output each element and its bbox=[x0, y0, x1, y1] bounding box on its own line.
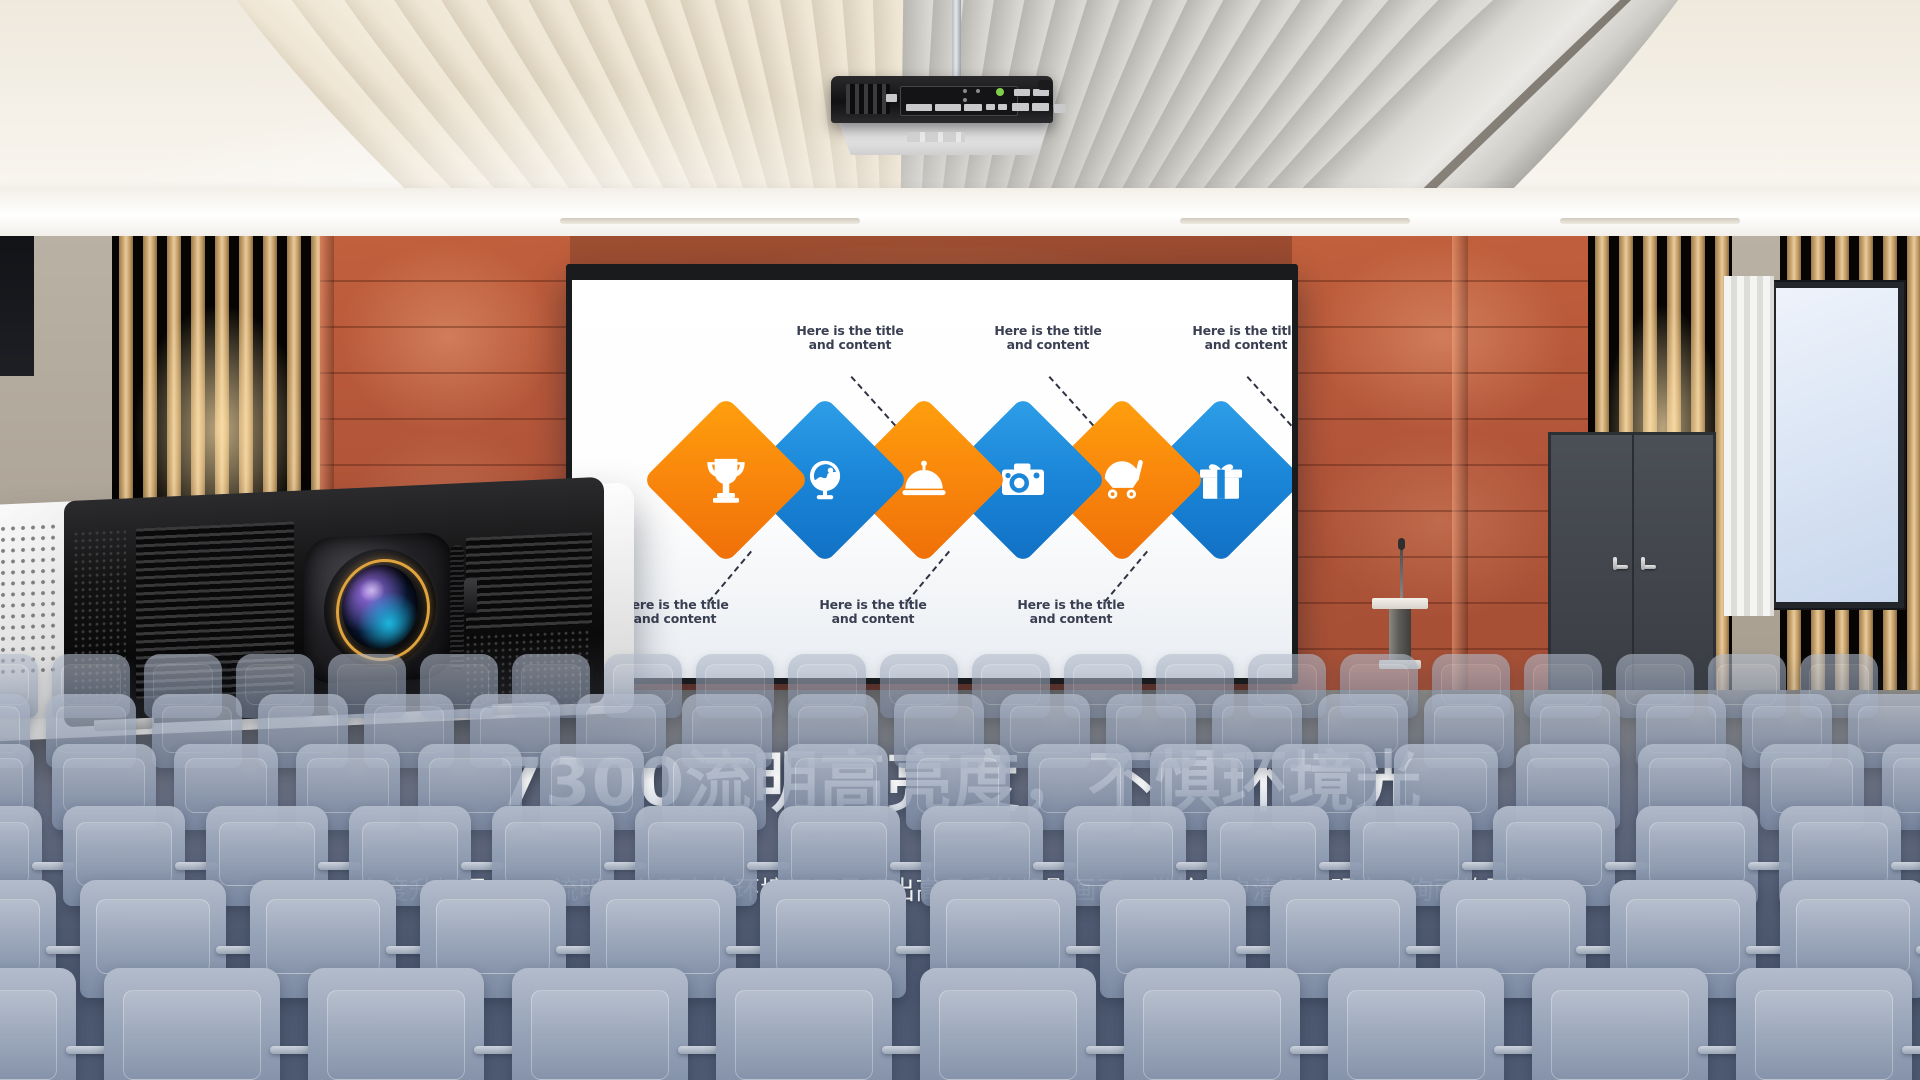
projector-vent-right bbox=[466, 532, 592, 630]
slide-label-top-2: Here is the titleand content bbox=[973, 324, 1123, 352]
slide-leader-line-bottom-1 bbox=[708, 551, 752, 603]
projector-focus-wheel[interactable] bbox=[450, 545, 464, 672]
auditorium-seat bbox=[1124, 968, 1300, 1080]
slide-leader-line-top-1 bbox=[851, 376, 897, 426]
projector-port bbox=[935, 104, 961, 111]
slide-label-bottom-3: Here is the titleand content bbox=[996, 598, 1146, 626]
product-banner: Here is the titleand contentHere is the … bbox=[0, 0, 1920, 1080]
projector-lens-shift-tab[interactable] bbox=[464, 579, 477, 614]
projector-indicator bbox=[996, 88, 1004, 96]
soffit-light-slot bbox=[1560, 218, 1740, 224]
projector-port bbox=[886, 94, 897, 102]
ceiling-projector-vent bbox=[846, 84, 890, 114]
projector-port bbox=[998, 104, 1007, 110]
projector-port bbox=[1033, 89, 1049, 96]
seat-armrest bbox=[1891, 862, 1920, 870]
door-handle-left[interactable] bbox=[1613, 565, 1628, 569]
projector-port bbox=[1012, 103, 1029, 111]
slide-label-top-3: Here is the titleand content bbox=[1171, 324, 1292, 352]
projection-screen: Here is the titleand contentHere is the … bbox=[572, 280, 1292, 678]
slide-leader-line-bottom-2 bbox=[906, 551, 950, 603]
podium-top bbox=[1372, 598, 1428, 609]
soffit-light-slot bbox=[1180, 218, 1410, 224]
window-glass bbox=[1776, 288, 1898, 602]
auditorium-seat bbox=[1532, 968, 1708, 1080]
auditorium-seat bbox=[512, 968, 688, 1080]
projected-slide: Here is the titleand contentHere is the … bbox=[572, 280, 1292, 678]
projector-port bbox=[964, 104, 982, 111]
auditorium-seat bbox=[308, 968, 484, 1080]
ceiling-projector-underside-vent bbox=[907, 132, 965, 142]
projector-port bbox=[1032, 103, 1049, 111]
seat-armrest bbox=[1902, 1046, 1920, 1054]
trophy-icon bbox=[667, 421, 785, 539]
seat-armrest bbox=[1916, 946, 1920, 954]
projector-indicator bbox=[976, 89, 980, 93]
projector-indicator bbox=[963, 98, 967, 102]
terracotta-wall-right bbox=[1292, 236, 1592, 696]
wall-corner-right bbox=[1452, 236, 1468, 696]
projector-port bbox=[906, 104, 932, 111]
wall-sheen bbox=[1292, 236, 1592, 696]
soffit-light-slot bbox=[560, 218, 860, 224]
projector-mount-rod bbox=[952, 0, 961, 76]
side-window bbox=[1768, 280, 1906, 610]
projector-port bbox=[1054, 104, 1066, 113]
slide-label-top-1: Here is the titleand content bbox=[775, 324, 925, 352]
slide-leader-line-bottom-3 bbox=[1104, 551, 1148, 603]
projector-port bbox=[1014, 89, 1030, 96]
auditorium-seating bbox=[0, 648, 1920, 1080]
auditorium-seat bbox=[1736, 968, 1912, 1080]
slide-leader-line-top-3 bbox=[1247, 376, 1292, 426]
slide-label-bottom-2: Here is the titleand content bbox=[798, 598, 948, 626]
ceiling-recess-left bbox=[0, 236, 34, 376]
auditorium-seat bbox=[1328, 968, 1504, 1080]
auditorium-seat bbox=[104, 968, 280, 1080]
projector-indicator bbox=[963, 89, 967, 93]
window-curtain bbox=[1724, 276, 1774, 616]
projector-port bbox=[986, 104, 995, 110]
slide-leader-line-top-2 bbox=[1049, 376, 1095, 426]
auditorium-seat bbox=[920, 968, 1096, 1080]
auditorium-seat bbox=[716, 968, 892, 1080]
podium-microphone bbox=[1400, 546, 1403, 602]
door-handle-right[interactable] bbox=[1641, 565, 1656, 569]
slide-diamond-1 bbox=[643, 397, 810, 564]
auditorium-seat bbox=[0, 968, 76, 1080]
projector-connector bbox=[1038, 80, 1052, 90]
